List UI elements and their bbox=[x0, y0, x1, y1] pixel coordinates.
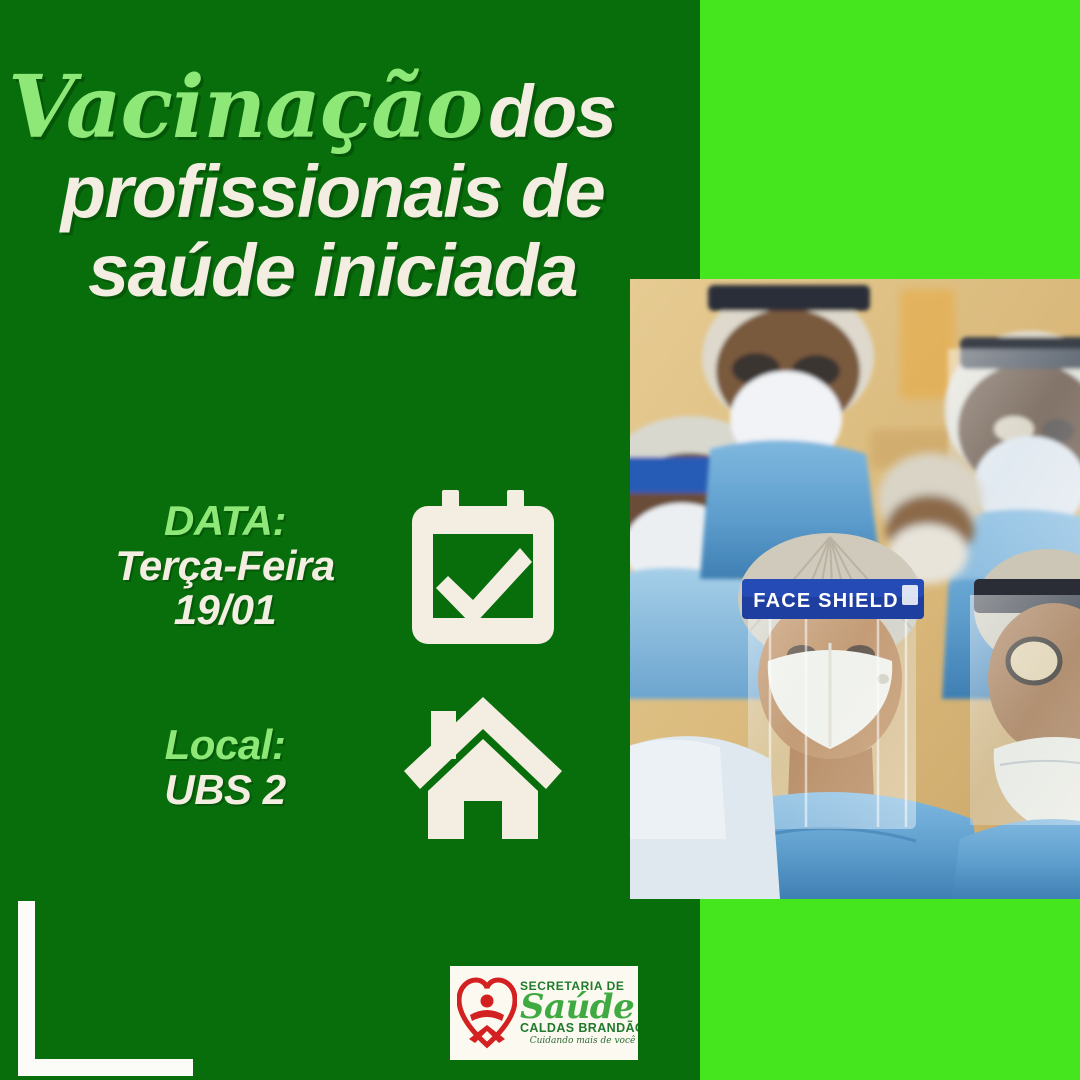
page-title: Vacinaçãodos profissionais de saúde inic… bbox=[0, 66, 665, 307]
corner-bracket-decoration bbox=[18, 901, 193, 1076]
place-row: Local: UBS 2 bbox=[60, 693, 620, 843]
place-label: Local: bbox=[60, 723, 390, 768]
heart-person-icon bbox=[450, 975, 520, 1051]
date-value-day: 19/01 bbox=[60, 588, 390, 633]
face-shield-label: FACE SHIELD bbox=[753, 590, 898, 612]
logo-sub-line: CALDAS BRANDÃO bbox=[520, 1022, 638, 1035]
headline-line-1: Vacinaçãodos bbox=[0, 66, 665, 150]
headline-line-2: profissionais de bbox=[0, 156, 665, 229]
headline-line-3: saúde iniciada bbox=[0, 235, 665, 308]
headline-word-after: dos bbox=[488, 70, 615, 153]
place-value: UBS 2 bbox=[60, 768, 390, 813]
info-block-date: DATA: Terça-Feira 19/01 bbox=[60, 486, 620, 646]
logo-main-line: Saúde bbox=[520, 990, 638, 1024]
date-text: DATA: Terça-Feira 19/01 bbox=[60, 499, 390, 633]
headline-script-word: Vacinação bbox=[8, 57, 488, 158]
poster-canvas: Vacinaçãodos profissionais de saúde inic… bbox=[0, 0, 1080, 1080]
house-icon bbox=[390, 693, 575, 843]
calendar-check-icon bbox=[390, 486, 575, 646]
place-text: Local: UBS 2 bbox=[60, 723, 390, 812]
logo-wordmark: SECRETARIA DE Saúde CALDAS BRANDÃO Cuida… bbox=[520, 980, 638, 1046]
logo-tagline: Cuidando mais de você bbox=[520, 1037, 638, 1046]
logo-secretaria-de-saude: SECRETARIA DE Saúde CALDAS BRANDÃO Cuida… bbox=[450, 966, 638, 1060]
photo-healthcare-workers: FACE SHIELD bbox=[630, 279, 1080, 899]
date-value-weekday: Terça-Feira bbox=[60, 544, 390, 589]
info-block-place: Local: UBS 2 bbox=[60, 693, 620, 843]
date-label: DATA: bbox=[60, 499, 390, 544]
date-row: DATA: Terça-Feira 19/01 bbox=[60, 486, 620, 646]
